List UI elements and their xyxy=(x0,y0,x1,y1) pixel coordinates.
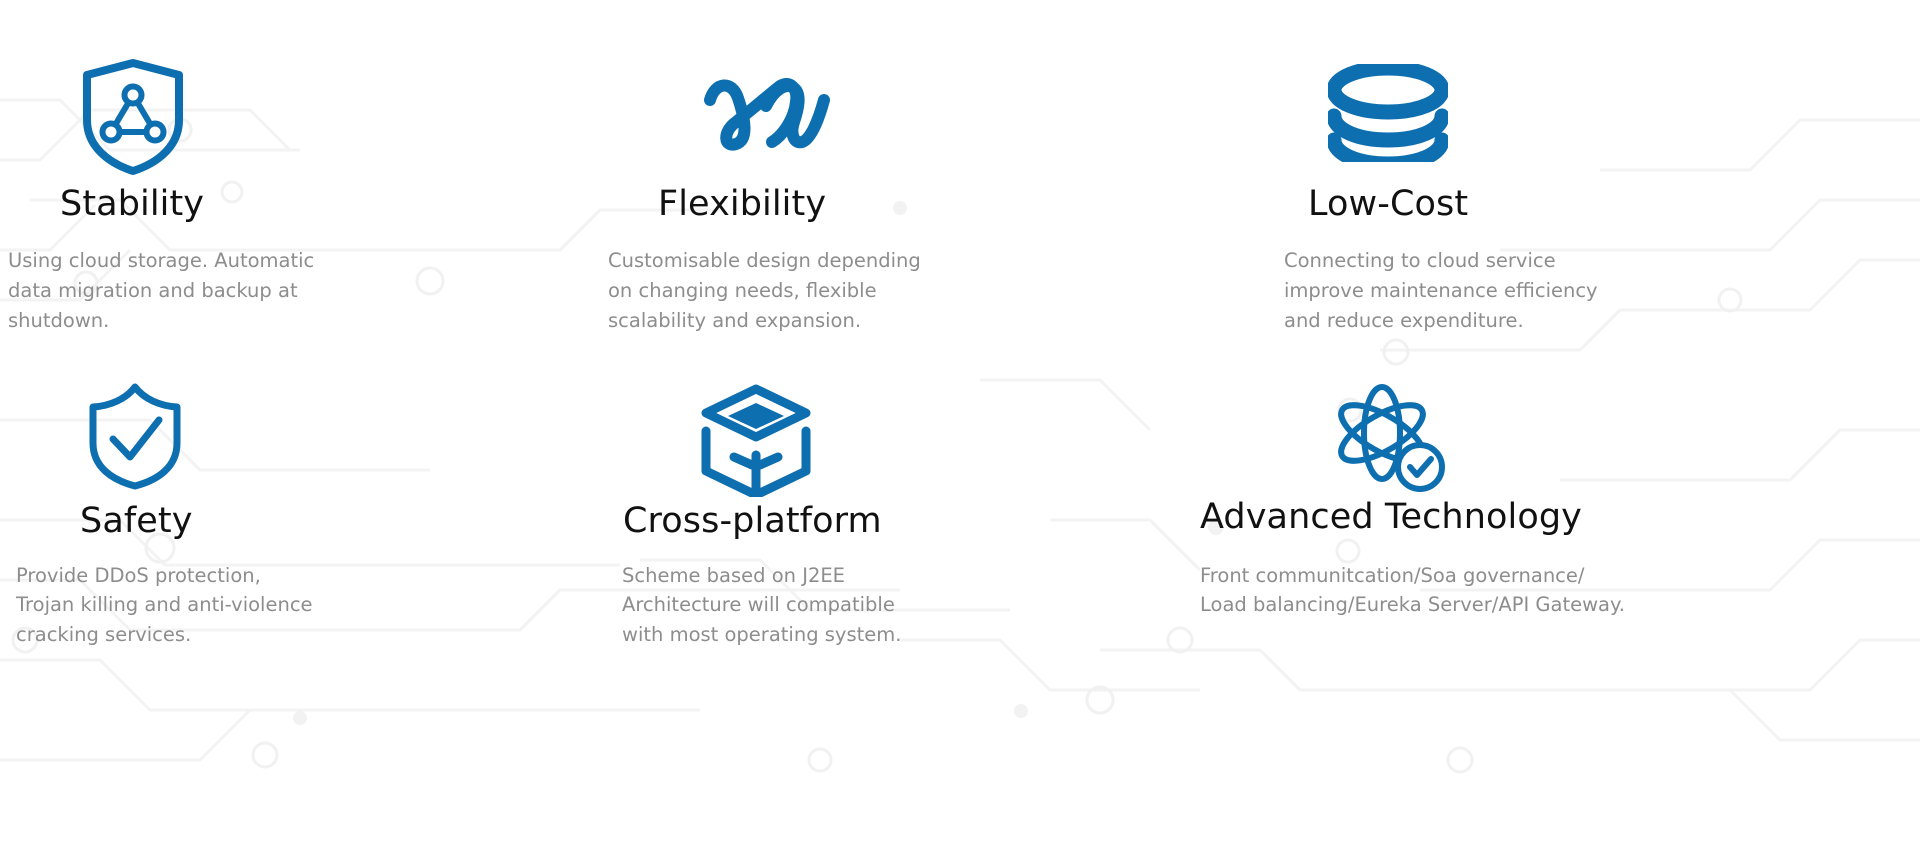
feature-title: Advanced Technology xyxy=(1200,497,1582,537)
feature-description: Front communitcation/Soa governance/ Loa… xyxy=(1200,561,1720,621)
feature-title: Safety xyxy=(80,501,193,541)
database-stack-icon xyxy=(1328,64,1448,162)
feature-title: Stability xyxy=(60,184,204,224)
shield-network-icon xyxy=(80,58,186,176)
feature-card-safety[interactable]: Safety Provide DDoS protection, Trojan k… xyxy=(0,433,640,865)
feature-title: Cross-platform xyxy=(623,501,882,541)
feature-title: Flexibility xyxy=(658,184,826,224)
feature-card-flexibility[interactable]: Flexibility Customisable design dependin… xyxy=(640,0,1280,433)
shield-check-icon xyxy=(86,381,184,491)
feature-description: Customisable design depending on changin… xyxy=(608,246,948,335)
feature-card-advanced-technology[interactable]: Advanced Technology Front communitcation… xyxy=(1280,433,1920,865)
atom-check-icon xyxy=(1328,381,1448,493)
feature-title: Low-Cost xyxy=(1308,184,1468,224)
wave-squiggle-icon xyxy=(702,70,832,156)
feature-description: Scheme based on J2EE Architecture will c… xyxy=(622,561,962,650)
feature-grid-page: Stability Using cloud storage. Automatic… xyxy=(0,0,1920,865)
feature-card-stability[interactable]: Stability Using cloud storage. Automatic… xyxy=(0,0,640,433)
feature-description: Provide DDoS protection, Trojan killing … xyxy=(16,561,356,650)
feature-description: Using cloud storage. Automatic data migr… xyxy=(8,246,338,335)
feature-card-cross-platform[interactable]: Cross-platform Scheme based on J2EE Arch… xyxy=(640,433,1280,865)
feature-card-low-cost[interactable]: Low-Cost Connecting to cloud service imp… xyxy=(1280,0,1920,433)
isometric-cube-icon xyxy=(698,383,814,497)
feature-description: Connecting to cloud service improve main… xyxy=(1284,246,1624,335)
feature-card-grid: Stability Using cloud storage. Automatic… xyxy=(0,0,1920,865)
